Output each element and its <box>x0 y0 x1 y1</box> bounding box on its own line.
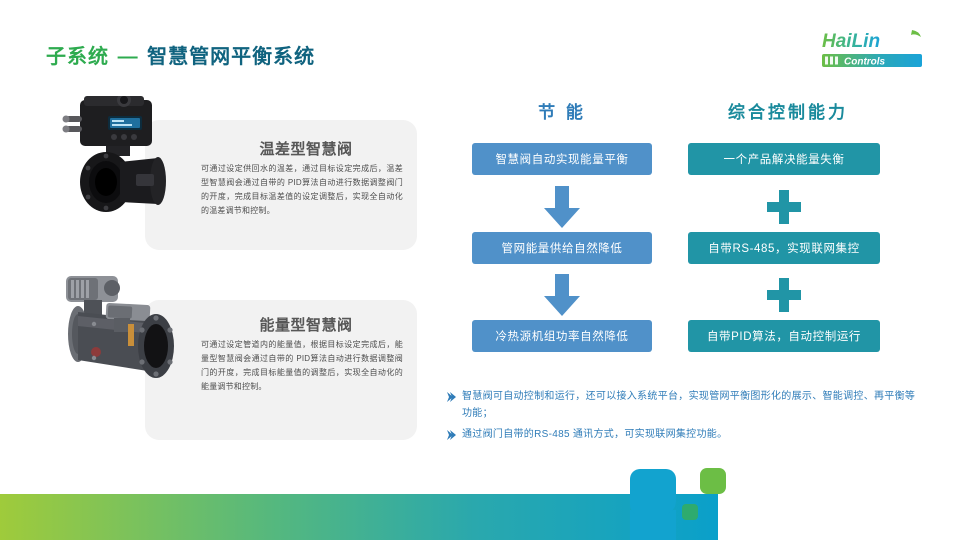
page-title-main: 智慧管网平衡系统 <box>147 46 315 68</box>
column-heading-integrated-control: 综合控制能力 <box>698 98 878 123</box>
list-item: 通过阀门自带的RS-485 通讯方式，可实现联网集控功能。 <box>446 426 916 445</box>
bullet-text: 通过阀门自带的RS-485 通讯方式，可实现联网集控功能。 <box>462 426 727 443</box>
down-arrow-icon-2 <box>542 274 582 316</box>
logo-subtext: Controls <box>844 57 886 68</box>
flow-box-control-1[interactable]: 一个产品解决能量失衡 <box>688 143 880 175</box>
hailin-logo: HaiLin Controls <box>808 28 938 72</box>
valve-image-temperature-difference <box>62 96 182 214</box>
bullet-list: 智慧阀可自动控制和运行，还可以接入系统平台，实现管网平衡图形化的展示、智能调控、… <box>446 388 916 449</box>
plus-icon-2 <box>767 278 801 312</box>
logo-wordmark: HaiLin <box>822 31 880 52</box>
page-title-dash: — <box>116 46 141 68</box>
plus-icon-1 <box>767 190 801 224</box>
flow-box-energy-1[interactable]: 智慧阀自动实现能量平衡 <box>472 143 652 175</box>
page-title-prefix: 子系统 <box>46 46 109 68</box>
flow-box-energy-2[interactable]: 管网能量供给自然降低 <box>472 232 652 264</box>
column-heading-energy-saving: 节 能 <box>472 98 652 123</box>
card-body: 可通过设定供回水的温差，通过目标设定完成后，温差型智慧阀会通过自带的 PID算法… <box>201 162 403 218</box>
bottom-gradient-bar <box>0 494 718 540</box>
page-title: 子系统 — 智慧管网平衡系统 <box>46 40 315 69</box>
card-temperature-difference-valve: 温差型智慧阀 可通过设定供回水的温差，通过目标设定完成后，温差型智慧阀会通过自带… <box>145 120 417 250</box>
valve-image-energy-type <box>50 268 196 388</box>
deco-green-square <box>700 468 726 494</box>
deco-cyan-square <box>630 469 676 515</box>
bullet-text: 智慧阀可自动控制和运行，还可以接入系统平台，实现管网平衡图形化的展示、智能调控、… <box>462 388 916 422</box>
chevron-right-icon <box>446 426 462 445</box>
card-title: 温差型智慧阀 <box>145 138 417 159</box>
chevron-right-icon <box>446 388 462 407</box>
flow-box-control-3[interactable]: 自带PID算法，自动控制运行 <box>688 320 880 352</box>
flow-box-control-2[interactable]: 自带RS-485，实现联网集控 <box>688 232 880 264</box>
card-body: 可通过设定管道内的能量值，根据目标设定完成后，能量型智慧阀会通过自带的 PID算… <box>201 338 403 394</box>
list-item: 智慧阀可自动控制和运行，还可以接入系统平台，实现管网平衡图形化的展示、智能调控、… <box>446 388 916 422</box>
deco-green-small-square <box>682 504 698 520</box>
flow-box-energy-3[interactable]: 冷热源机组功率自然降低 <box>472 320 652 352</box>
down-arrow-icon-1 <box>542 186 582 228</box>
slide-root: 子系统 — 智慧管网平衡系统 HaiLin <box>0 0 960 540</box>
